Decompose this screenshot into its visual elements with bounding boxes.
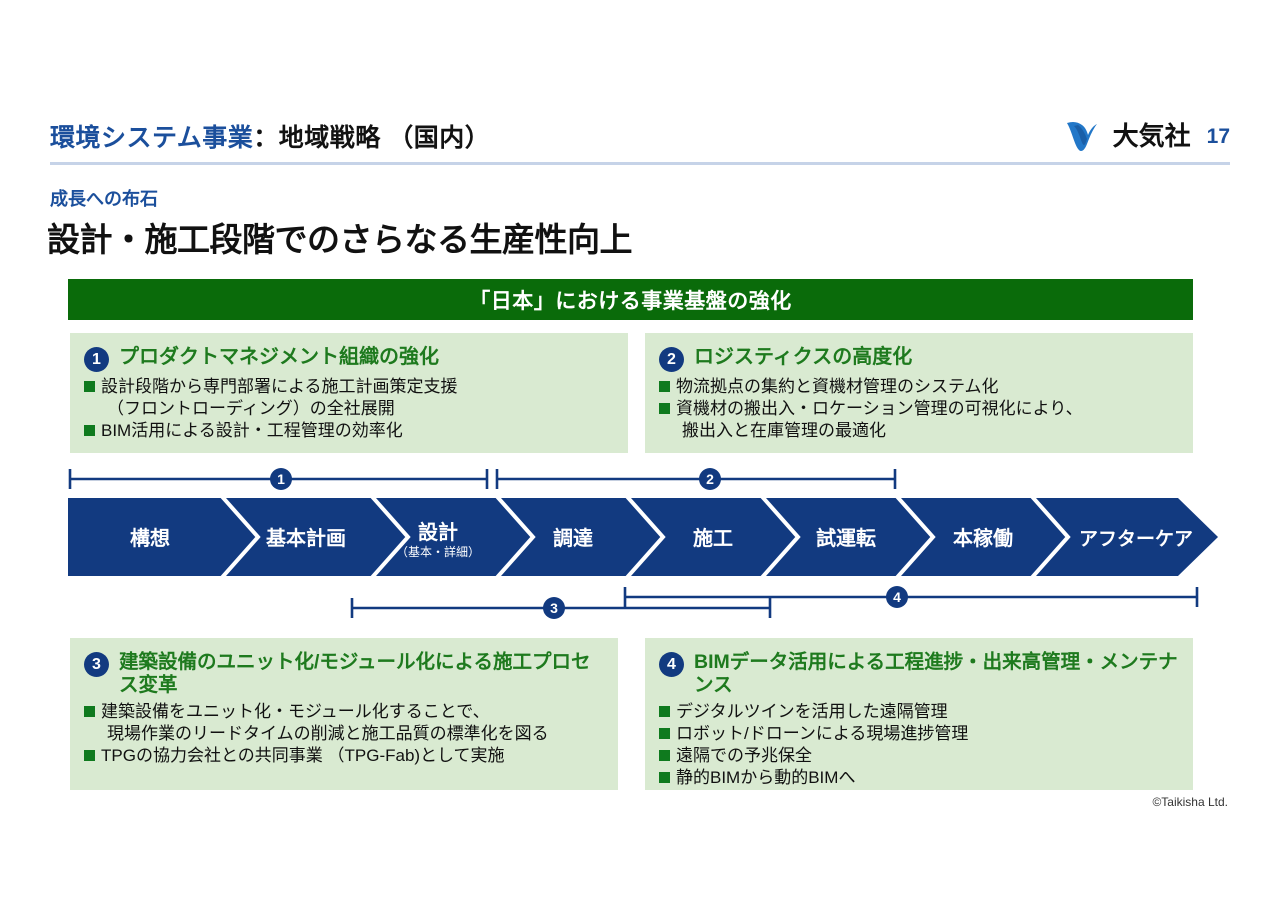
bullet-text: デジタルツインを活用した遠隔管理 (676, 702, 948, 721)
svg-text:1: 1 (277, 471, 285, 487)
process-step-label-3: 設計 (418, 520, 458, 544)
process-step-label-5: 施工 (693, 526, 733, 550)
bullet-text: TPGの協力会社との共同事業 （TPG-Fab)として実施 (101, 746, 505, 765)
bullet-text: ロボット/ドローンによる現場進捗管理 (676, 724, 968, 743)
number-badge-3: 3 (84, 652, 109, 677)
process-step-label-4: 調達 (553, 526, 593, 550)
copyright-notice: ©Taikisha Ltd. (1152, 795, 1228, 809)
page-title: 環境システム事業：地域戦略 （国内） (50, 118, 490, 154)
number-badge-4: 4 (659, 652, 684, 677)
slide-header: 環境システム事業：地域戦略 （国内） 大気社 17 (50, 118, 1230, 164)
list-item: BIM活用による設計・工程管理の効率化 (84, 420, 614, 442)
info-card-1-bullets: 設計段階から専門部署による施工計画策定支援 （フロントローディング）の全社展開 … (84, 376, 614, 442)
list-item: 資機材の搬出入・ロケーション管理の可視化により、 搬出入と在庫管理の最適化 (659, 398, 1179, 442)
list-item: 建築設備をユニット化・モジュール化することで、 現場作業のリードタイムの削減と施… (84, 701, 604, 745)
svg-text:2: 2 (706, 471, 714, 487)
number-badge-1: 1 (84, 347, 109, 372)
info-card-1-title: プロダクトマネジメント組織の強化 (119, 345, 439, 370)
taikisha-logo-icon (1065, 120, 1099, 152)
range-bracket-3: 3 (352, 597, 770, 619)
list-item: 遠隔での予兆保全 (659, 745, 1179, 767)
page-title-primary: 環境システム事業 (50, 124, 253, 152)
list-item: デジタルツインを活用した遠隔管理 (659, 701, 1179, 723)
section-heading: 設計・施工段階でのさらなる生産性向上 (47, 213, 632, 261)
process-step-label-8: アフターケア (1079, 528, 1193, 550)
bullet-text-continued: 搬出入と在庫管理の最適化 (676, 420, 1179, 442)
info-card-1: 1 プロダクトマネジメント組織の強化 設計段階から専門部署による施工計画策定支援… (70, 333, 628, 453)
bullet-text: 建築設備をユニット化・モジュール化することで、 (101, 702, 490, 721)
list-item: 設計段階から専門部署による施工計画策定支援 （フロントローディング）の全社展開 (84, 376, 614, 420)
bullet-text: 遠隔での予兆保全 (676, 746, 812, 765)
range-bracket-2: 2 (497, 468, 895, 490)
info-card-2-bullets: 物流拠点の集約と資機材管理のシステム化 資機材の搬出入・ロケーション管理の可視化… (659, 376, 1179, 442)
list-item: 物流拠点の集約と資機材管理のシステム化 (659, 376, 1179, 398)
info-card-2-title: ロジスティクスの高度化 (694, 345, 912, 370)
number-badge-2: 2 (659, 347, 684, 372)
banner: 「日本」における事業基盤の強化 (68, 279, 1193, 320)
svg-text:4: 4 (893, 589, 901, 605)
process-step-label-6: 試運転 (816, 526, 876, 550)
page-title-secondary: ：地域戦略 （国内） (253, 124, 490, 152)
bullet-text: 資機材の搬出入・ロケーション管理の可視化により、 (676, 399, 1083, 418)
brand-block: 大気社 17 (1065, 120, 1230, 152)
bullet-text: 静的BIMから動的BIMへ (676, 768, 855, 787)
bullet-text: 設計段階から専門部署による施工計画策定支援 (101, 377, 458, 396)
process-step-label-7: 本稼働 (953, 526, 1013, 550)
info-card-3-header: 3 建築設備のユニット化/モジュール化による施工プロセス変革 (84, 650, 604, 697)
process-flow-bar: 構想 基本計画 設計 （基本・詳細） 調達 施工 試運転 本稼働 アフターケア (68, 498, 1218, 576)
process-step-label-2: 基本計画 (266, 526, 346, 550)
bullet-text: BIM活用による設計・工程管理の効率化 (101, 421, 403, 440)
header-divider (50, 162, 1230, 165)
info-card-4-title: BIMデータ活用による工程進捗・出来高管理・メンテナンス (694, 650, 1179, 697)
bullet-text-continued: （フロントローディング）の全社展開 (101, 398, 614, 420)
range-bracket-1: 1 (70, 468, 487, 490)
bullet-text-continued: 現場作業のリードタイムの削減と施工品質の標準化を図る (101, 723, 604, 745)
process-step-label-1: 構想 (130, 526, 170, 550)
info-card-3-bullets: 建築設備をユニット化・モジュール化することで、 現場作業のリードタイムの削減と施… (84, 701, 604, 767)
range-bracket-4: 4 (625, 586, 1197, 608)
svg-text:3: 3 (550, 600, 558, 616)
section-subtitle: 成長への布石 (50, 185, 158, 211)
info-card-4-bullets: デジタルツインを活用した遠隔管理 ロボット/ドローンによる現場進捗管理 遠隔での… (659, 701, 1179, 789)
list-item: TPGの協力会社との共同事業 （TPG-Fab)として実施 (84, 745, 604, 767)
info-card-3-title: 建築設備のユニット化/モジュール化による施工プロセス変革 (119, 650, 604, 697)
brand-name: 大気社 (1113, 123, 1191, 149)
info-card-3: 3 建築設備のユニット化/モジュール化による施工プロセス変革 建築設備をユニット… (70, 638, 618, 790)
process-step-sublabel-3: （基本・詳細） (396, 544, 480, 559)
bullet-text: 物流拠点の集約と資機材管理のシステム化 (676, 377, 999, 396)
banner-label: 「日本」における事業基盤の強化 (469, 285, 792, 315)
info-card-2-header: 2 ロジスティクスの高度化 (659, 345, 1179, 372)
list-item: ロボット/ドローンによる現場進捗管理 (659, 723, 1179, 745)
list-item: 静的BIMから動的BIMへ (659, 767, 1179, 789)
info-card-2: 2 ロジスティクスの高度化 物流拠点の集約と資機材管理のシステム化 資機材の搬出… (645, 333, 1193, 453)
page-number: 17 (1207, 126, 1230, 147)
info-card-4: 4 BIMデータ活用による工程進捗・出来高管理・メンテナンス デジタルツインを活… (645, 638, 1193, 790)
info-card-4-header: 4 BIMデータ活用による工程進捗・出来高管理・メンテナンス (659, 650, 1179, 697)
info-card-1-header: 1 プロダクトマネジメント組織の強化 (84, 345, 614, 372)
